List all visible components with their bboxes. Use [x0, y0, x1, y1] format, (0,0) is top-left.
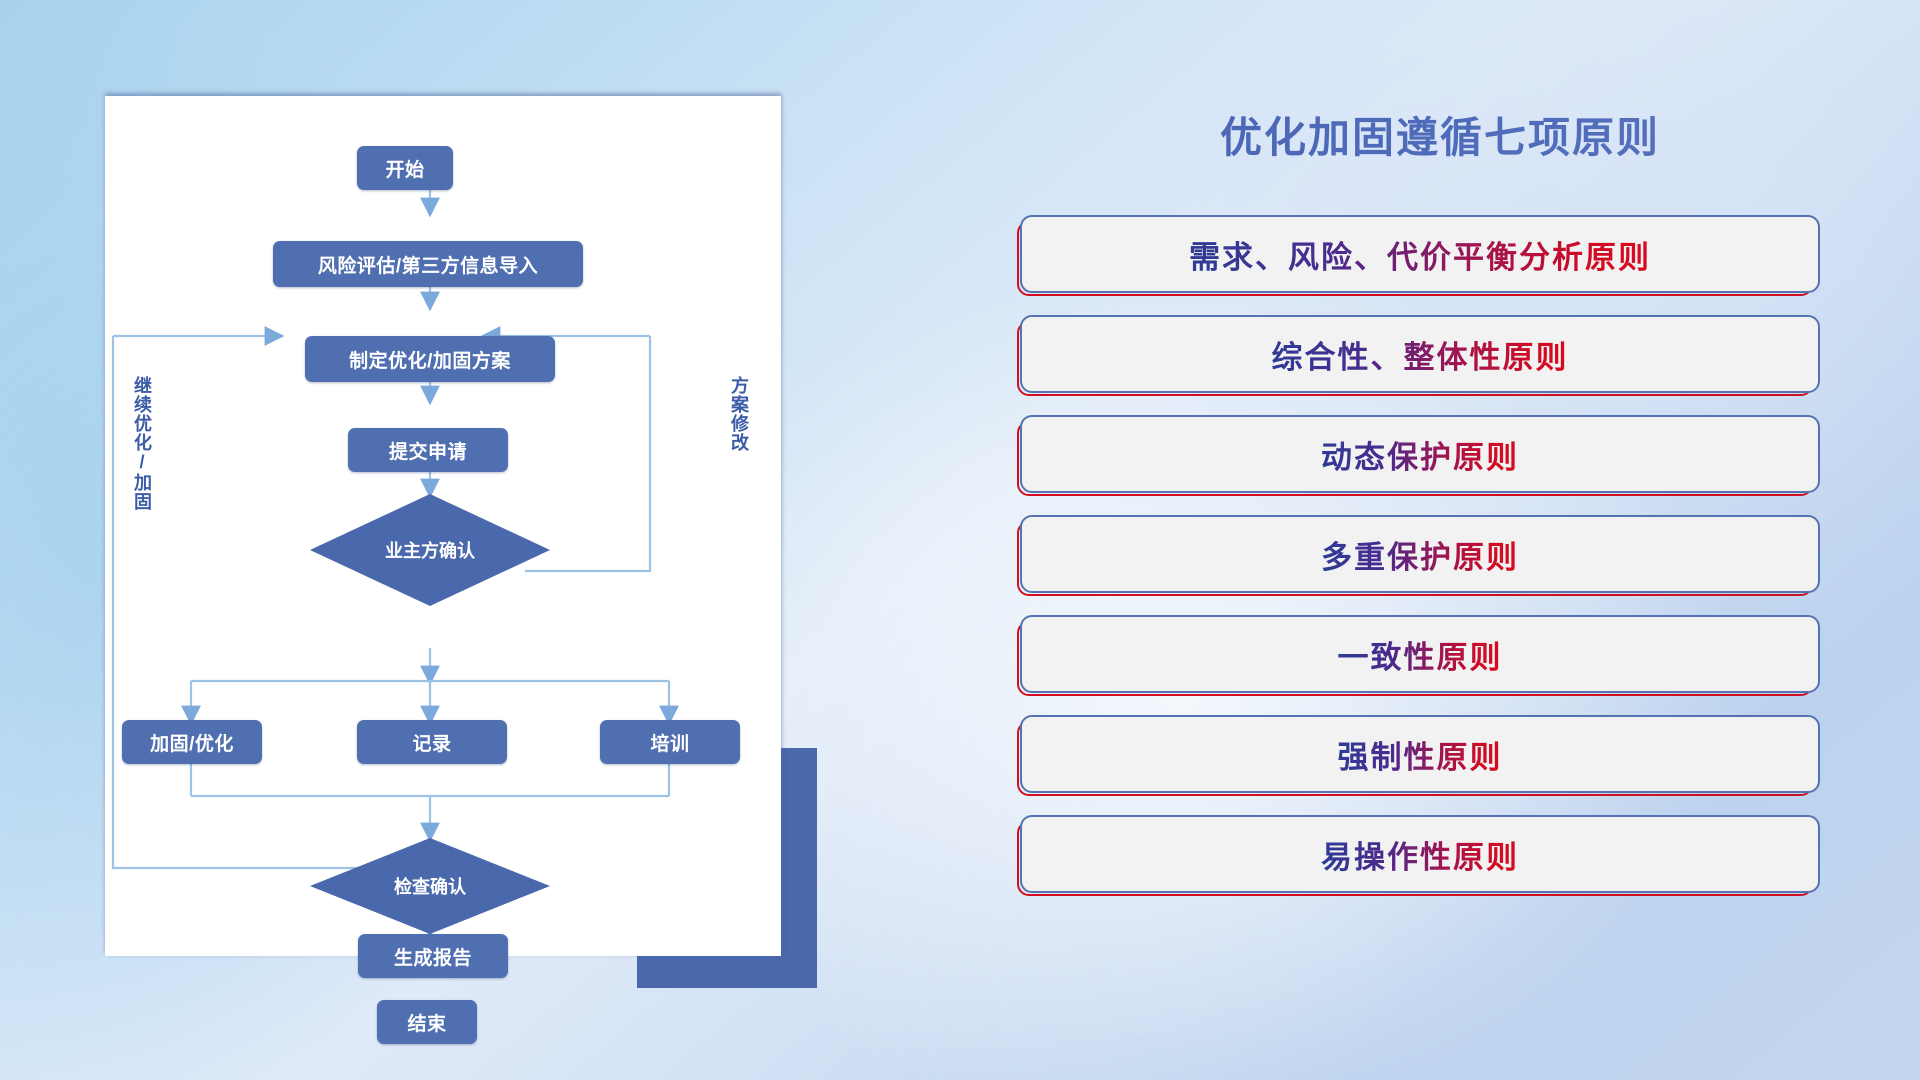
principle-card-label: 易操作性原则 [1321, 832, 1519, 877]
flowchart: 开始 风险评估/第三方信息导入 制定优化/加固方案 提交申请 业主方确认 加固/… [105, 96, 781, 956]
flow-node-end-label: 结束 [407, 1009, 446, 1036]
flow-node-start-label: 开始 [385, 155, 424, 182]
principle-card-label: 动态保护原则 [1321, 432, 1519, 477]
flow-edge-label-continue-optimize: 继续优化/加固 [133, 376, 151, 511]
principle-card-label: 综合性、整体性原则 [1272, 332, 1569, 377]
principle-card-label: 强制性原则 [1338, 732, 1503, 777]
flow-node-risk-assessment[interactable]: 风险评估/第三方信息导入 [273, 241, 583, 287]
principle-card-label: 多重保护原则 [1321, 532, 1519, 577]
principle-card[interactable]: 多重保护原则 [1020, 515, 1820, 593]
principle-card[interactable]: 强制性原则 [1020, 715, 1820, 793]
flow-node-inspection[interactable]: 检查确认 [310, 838, 550, 934]
flowchart-sheet: 开始 风险评估/第三方信息导入 制定优化/加固方案 提交申请 业主方确认 加固/… [105, 96, 781, 956]
flow-node-inspection-label: 检查确认 [394, 873, 466, 899]
sheet-accent-horizontal [637, 955, 817, 988]
principle-card-label: 一致性原则 [1338, 632, 1503, 677]
principle-card[interactable]: 动态保护原则 [1020, 415, 1820, 493]
flow-node-owner-confirm[interactable]: 业主方确认 [310, 494, 550, 606]
flow-node-submit[interactable]: 提交申请 [348, 428, 508, 472]
page-title: 优化加固遵循七项原则 [1020, 104, 1860, 165]
flow-node-training[interactable]: 培训 [600, 720, 740, 764]
flow-node-record[interactable]: 记录 [357, 720, 507, 764]
flow-node-reinforce-label: 加固/优化 [150, 729, 234, 756]
flow-node-owner-confirm-label: 业主方确认 [385, 537, 475, 563]
flow-node-end[interactable]: 结束 [377, 1000, 477, 1044]
flow-node-reinforce[interactable]: 加固/优化 [122, 720, 262, 764]
flow-edge-label-plan-revision: 方案修改 [730, 376, 748, 452]
flow-node-record-label: 记录 [412, 729, 451, 756]
principle-card[interactable]: 综合性、整体性原则 [1020, 315, 1820, 393]
flow-node-risk-assessment-label: 风险评估/第三方信息导入 [318, 251, 538, 278]
flow-node-start[interactable]: 开始 [357, 146, 453, 190]
flow-node-training-label: 培训 [650, 729, 689, 756]
flow-node-plan-label: 制定优化/加固方案 [349, 346, 511, 373]
principle-card[interactable]: 一致性原则 [1020, 615, 1820, 693]
flow-node-report-label: 生成报告 [394, 943, 472, 970]
principles-list: 需求、风险、代价平衡分析原则 综合性、整体性原则 动态保护原则 多重保护原则 一… [1020, 215, 1860, 893]
flow-node-report[interactable]: 生成报告 [358, 934, 508, 978]
principle-card[interactable]: 需求、风险、代价平衡分析原则 [1020, 215, 1820, 293]
flow-node-plan[interactable]: 制定优化/加固方案 [305, 336, 555, 382]
principle-card-label: 需求、风险、代价平衡分析原则 [1189, 232, 1651, 277]
principle-card[interactable]: 易操作性原则 [1020, 815, 1820, 893]
flow-node-submit-label: 提交申请 [389, 437, 467, 464]
principles-panel: 优化加固遵循七项原则 需求、风险、代价平衡分析原则 综合性、整体性原则 动态保护… [1020, 96, 1860, 1026]
